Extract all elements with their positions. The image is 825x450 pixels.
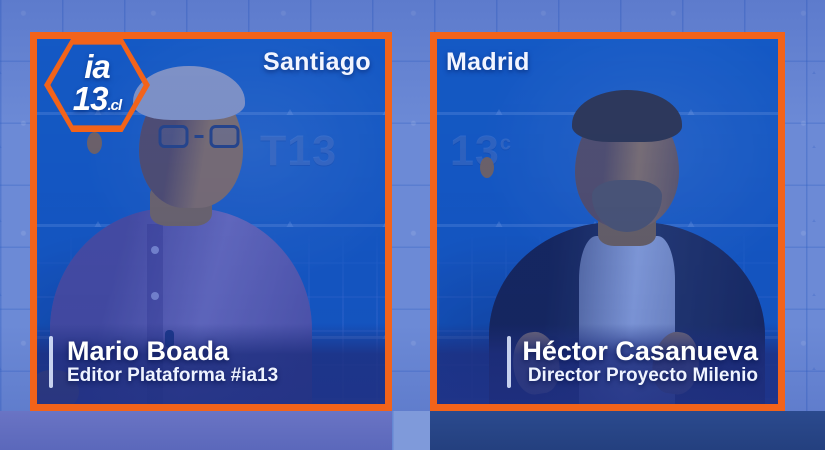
guest-name: Héctor Casanueva bbox=[511, 337, 758, 365]
lower-third-madrid: Héctor Casanueva Director Proyecto Milen… bbox=[437, 324, 778, 404]
broadcast-stage: T13 bbox=[0, 0, 825, 450]
lower-third-text-group: Héctor Casanueva Director Proyecto Milen… bbox=[511, 337, 762, 386]
city-label-santiago: Santiago bbox=[263, 48, 371, 77]
lower-strip-left bbox=[0, 411, 392, 450]
lower-third-santiago: Mario Boada Editor Plataforma #ia13 bbox=[37, 324, 385, 404]
video-window-madrid[interactable]: 13c Héctor Cas bbox=[430, 32, 785, 411]
ia13-logo[interactable]: ia 13.cl bbox=[44, 38, 150, 132]
guest-role: Director Proyecto Milenio bbox=[511, 365, 758, 386]
guest-role: Editor Plataforma #ia13 bbox=[67, 365, 369, 386]
video-feed-madrid: 13c Héctor Cas bbox=[437, 39, 778, 404]
lower-video-strip bbox=[0, 411, 825, 450]
logo-tld: .cl bbox=[108, 97, 122, 114]
lower-strip-right bbox=[430, 411, 825, 450]
lower-third-text-group: Mario Boada Editor Plataforma #ia13 bbox=[53, 337, 369, 386]
logo-line-2: 13.cl bbox=[44, 80, 150, 118]
guest-name: Mario Boada bbox=[67, 337, 369, 365]
logo-number: 13 bbox=[73, 80, 108, 117]
city-label-madrid: Madrid bbox=[446, 48, 530, 77]
lower-strip-middle bbox=[392, 411, 430, 450]
